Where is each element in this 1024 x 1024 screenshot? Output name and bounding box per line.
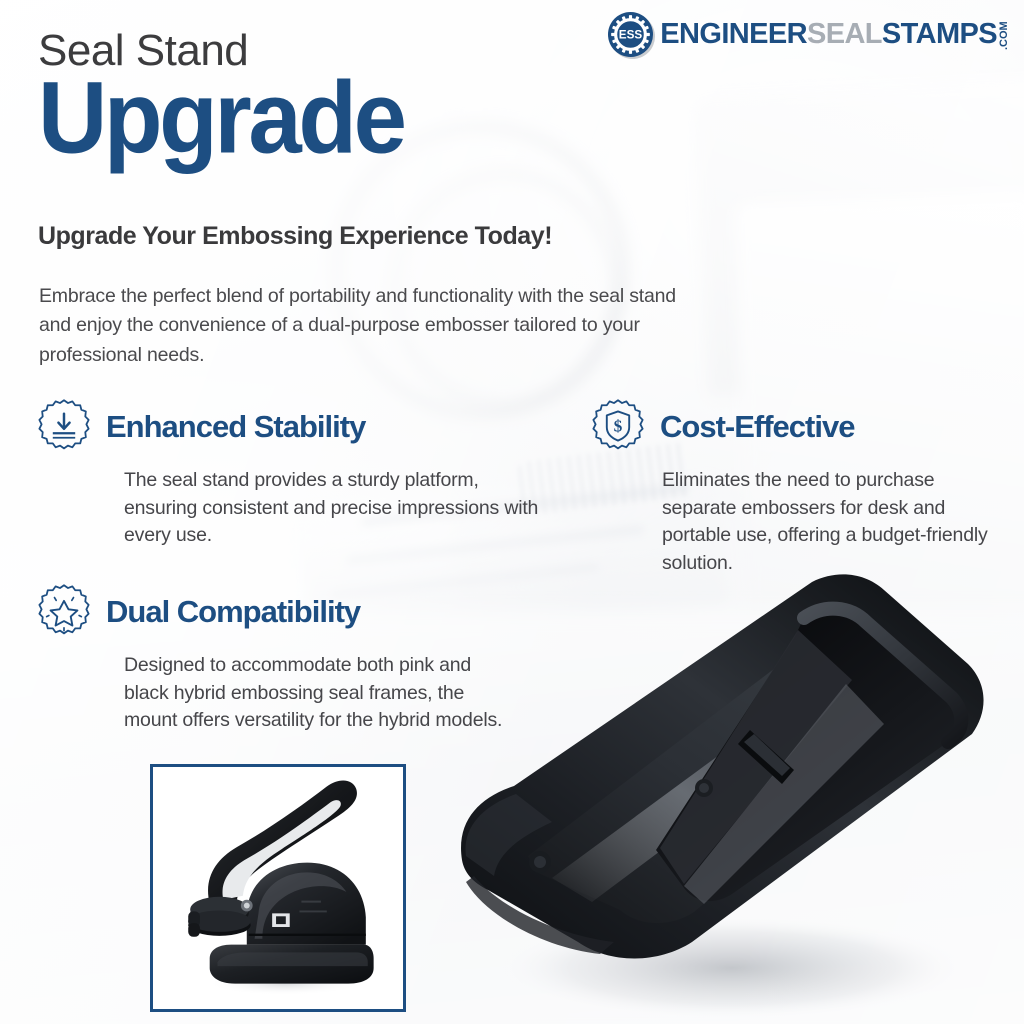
- badge-star-sparkle-icon: [36, 583, 92, 639]
- brand-logo[interactable]: ESS ENGINEER SEAL STAMPS .COM: [608, 12, 1010, 57]
- feature-body: The seal stand provides a sturdy platfor…: [124, 467, 556, 550]
- badge-shield-dollar-icon: $: [590, 398, 646, 454]
- feature-header: Dual Compatibility: [36, 583, 516, 639]
- brand-word-stamps: STAMPS: [882, 20, 997, 49]
- headline-line-2: Upgrade: [38, 73, 404, 165]
- black-seal-stand-cradle-photo: [432, 560, 1024, 1024]
- poster-canvas: ESS ENGINEER SEAL STAMPS .COM Seal Stand…: [0, 0, 1024, 1024]
- ess-badge-text: ESS: [619, 29, 643, 42]
- feature-body: Eliminates the need to purchase separate…: [662, 467, 1010, 578]
- handheld-embosser-on-stand-photo: [150, 764, 406, 1012]
- feature-cost-effective: $ Cost-Effective Eliminates the need to …: [590, 398, 1010, 578]
- page-title: Seal Stand Upgrade: [38, 28, 404, 159]
- feature-body: Designed to accommodate both pink and bl…: [124, 652, 516, 735]
- subheading: Upgrade Your Embossing Experience Today!: [38, 222, 552, 251]
- brand-word-seal: SEAL: [807, 20, 882, 49]
- ess-gear-emblem-icon: ESS: [608, 12, 653, 57]
- inset-photo-image: [153, 767, 403, 1009]
- brand-wordmark: ENGINEER SEAL STAMPS .COM: [660, 20, 1010, 50]
- brand-word-tld: .COM: [999, 20, 1010, 50]
- feature-enhanced-stability: Enhanced Stability The seal stand provid…: [36, 398, 556, 550]
- feature-title: Enhanced Stability: [106, 411, 365, 442]
- feature-dual-compatibility: Dual Compatibility Designed to accommoda…: [36, 583, 516, 735]
- brand-word-engineer: ENGINEER: [660, 20, 807, 49]
- feature-header: Enhanced Stability: [36, 398, 556, 454]
- intro-paragraph: Embrace the perfect blend of portability…: [39, 282, 709, 370]
- svg-text:$: $: [614, 417, 623, 436]
- feature-header: $ Cost-Effective: [590, 398, 1010, 454]
- feature-title: Dual Compatibility: [106, 596, 360, 627]
- badge-down-arrow-stability-icon: [36, 398, 92, 454]
- feature-title: Cost-Effective: [660, 411, 854, 442]
